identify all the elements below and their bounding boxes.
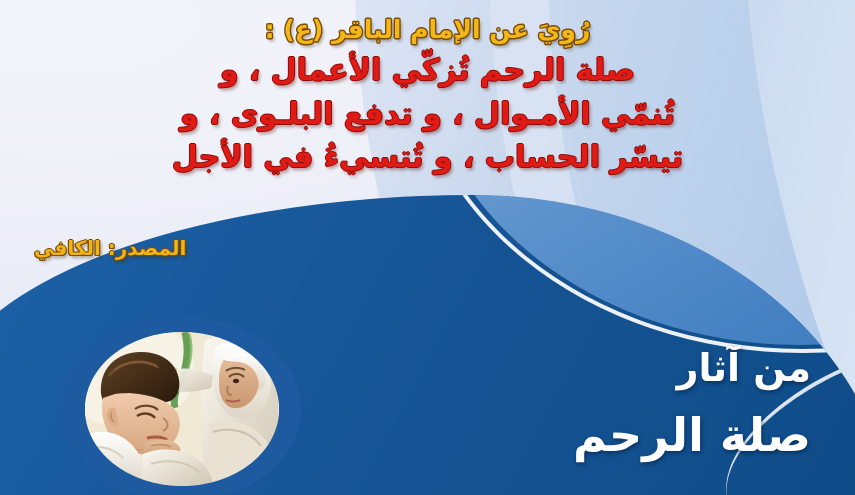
quote-line-2: تُنمّي الأمـوال ، و تدفع البلـوى ، و [0,93,855,137]
photo-oval-frame [63,316,301,495]
quote-attribution: رُوِيَ عن الإمام الباقر (ع) : [0,8,855,45]
headline-top-line: من آثار [677,346,811,390]
quote-block: رُوِيَ عن الإمام الباقر (ع) : صلة الرحم … [0,8,855,180]
photo-illustration [85,332,279,486]
poster-canvas: رُوِيَ عن الإمام الباقر (ع) : صلة الرحم … [0,0,855,495]
quote-source: المصدر: الكافي [34,236,186,260]
headline-bottom-line: صلة الرحم [573,408,811,462]
quote-line-3: تيسّر الحساب ، و تُتسيءُ في الأجل [0,136,855,180]
panel-white-arc [408,195,855,353]
photo-image [85,332,279,486]
quote-line-1: صلة الرحم تُزكّي الأعمال ، و [0,49,855,93]
